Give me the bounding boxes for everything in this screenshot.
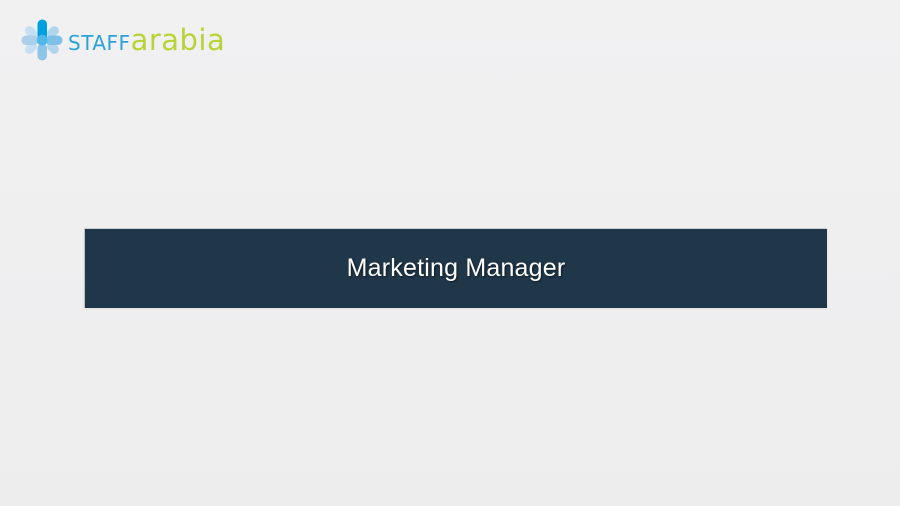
staffarabia-starburst-icon — [20, 18, 64, 62]
brand-word-arabia: arabia — [131, 26, 226, 55]
slide-canvas: staffarabia Marketing Manager — [0, 0, 900, 506]
title-banner: Marketing Manager — [84, 228, 827, 308]
brand-logo[interactable]: staffarabia — [20, 16, 225, 64]
brand-word-staff: staff — [68, 26, 131, 55]
brand-wordmark: staffarabia — [68, 26, 225, 55]
page-title: Marketing Manager — [347, 256, 566, 281]
